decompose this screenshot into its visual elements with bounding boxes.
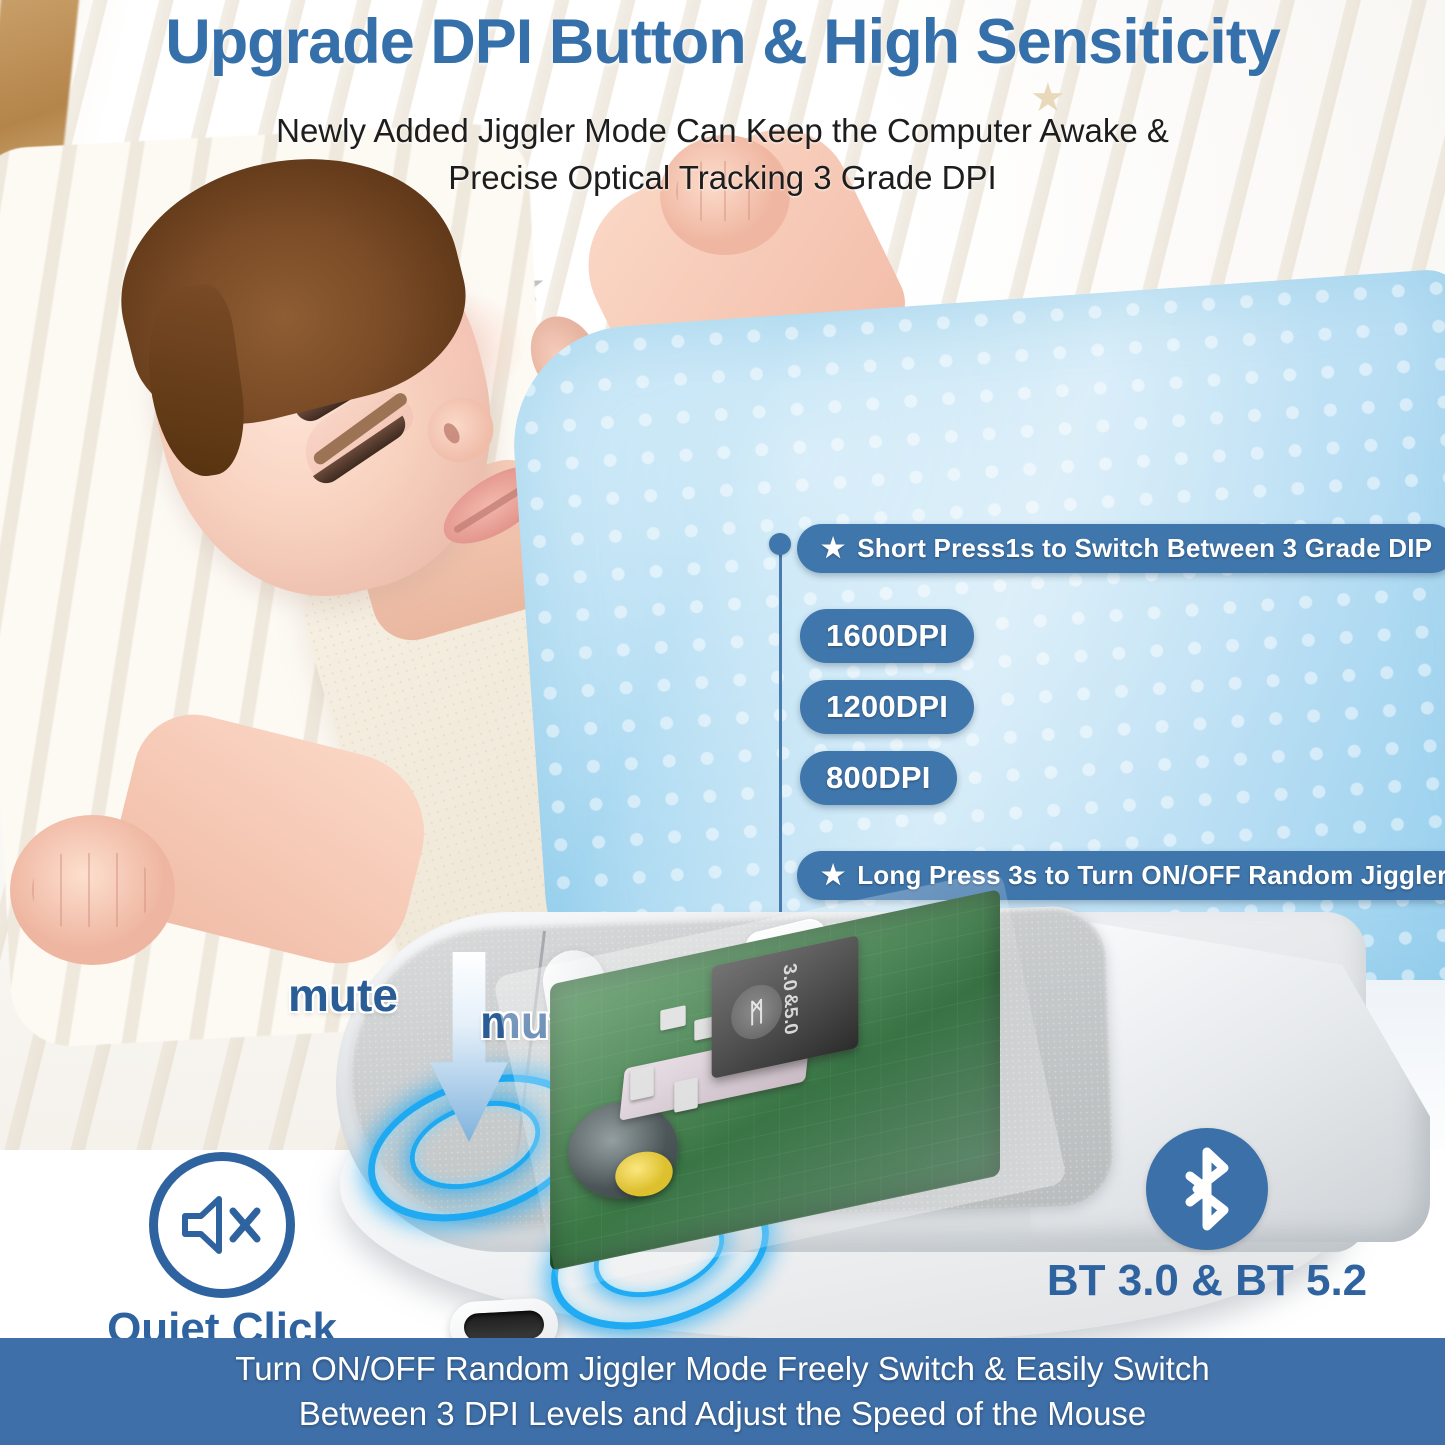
feature-bluetooth-label: BT 3.0 & BT 5.2 — [1012, 1256, 1402, 1306]
chip-marking-bottom: &5.0 — [779, 991, 801, 1037]
banner-line-1: Turn ON/OFF Random Jiggler Mode Freely S… — [235, 1347, 1209, 1392]
callout-short-press-label: Short Press1s to Switch Between 3 Grade … — [857, 533, 1432, 564]
baby-left-fist — [10, 815, 175, 965]
page-title: Upgrade DPI Button & High Sensiticity — [0, 6, 1445, 78]
feature-bluetooth: BT 3.0 & BT 5.2 — [1012, 1128, 1402, 1306]
callout-leader-line — [779, 551, 782, 939]
dpi-badge-800-label: 800DPI — [826, 760, 931, 796]
dpi-badge-1200-label: 1200DPI — [826, 689, 948, 725]
star-icon: ★ — [821, 535, 845, 562]
bottom-banner: Turn ON/OFF Random Jiggler Mode Freely S… — [0, 1338, 1445, 1445]
chip-marking-top: 3.0 — [778, 962, 800, 994]
chip-bluetooth-glyph-icon: ᛗ — [731, 980, 782, 1044]
banner-line-2: Between 3 DPI Levels and Adjust the Spee… — [299, 1392, 1147, 1437]
callout-long-press-label: Long Press 3s to Turn ON/OFF Random Jigg… — [857, 860, 1445, 891]
subtitle-line-2: Precise Optical Tracking 3 Grade DPI — [0, 155, 1445, 202]
product-feature-graphic: ★ ★ — [0, 0, 1445, 1445]
dpi-badge-800: 800DPI — [800, 751, 957, 805]
bluetooth-icon — [1146, 1128, 1268, 1250]
dpi-badge-1600: 1600DPI — [800, 609, 974, 663]
feature-quiet-click: Quiet Click — [72, 1152, 372, 1354]
subtitle-line-1: Newly Added Jiggler Mode Can Keep the Co… — [0, 108, 1445, 155]
dpi-badge-1600-label: 1600DPI — [826, 618, 948, 654]
mute-label-left: mute — [288, 968, 398, 1022]
callout-short-press: ★ Short Press1s to Switch Between 3 Grad… — [797, 524, 1445, 573]
pcb-smd-component — [630, 1065, 653, 1101]
mute-speaker-icon — [149, 1152, 295, 1298]
star-icon: ★ — [821, 862, 845, 889]
dpi-badge-1200: 1200DPI — [800, 680, 974, 734]
page-subtitle: Newly Added Jiggler Mode Can Keep the Co… — [0, 108, 1445, 202]
callout-anchor-dot-top — [769, 533, 791, 555]
pcb-smd-component — [674, 1077, 697, 1113]
